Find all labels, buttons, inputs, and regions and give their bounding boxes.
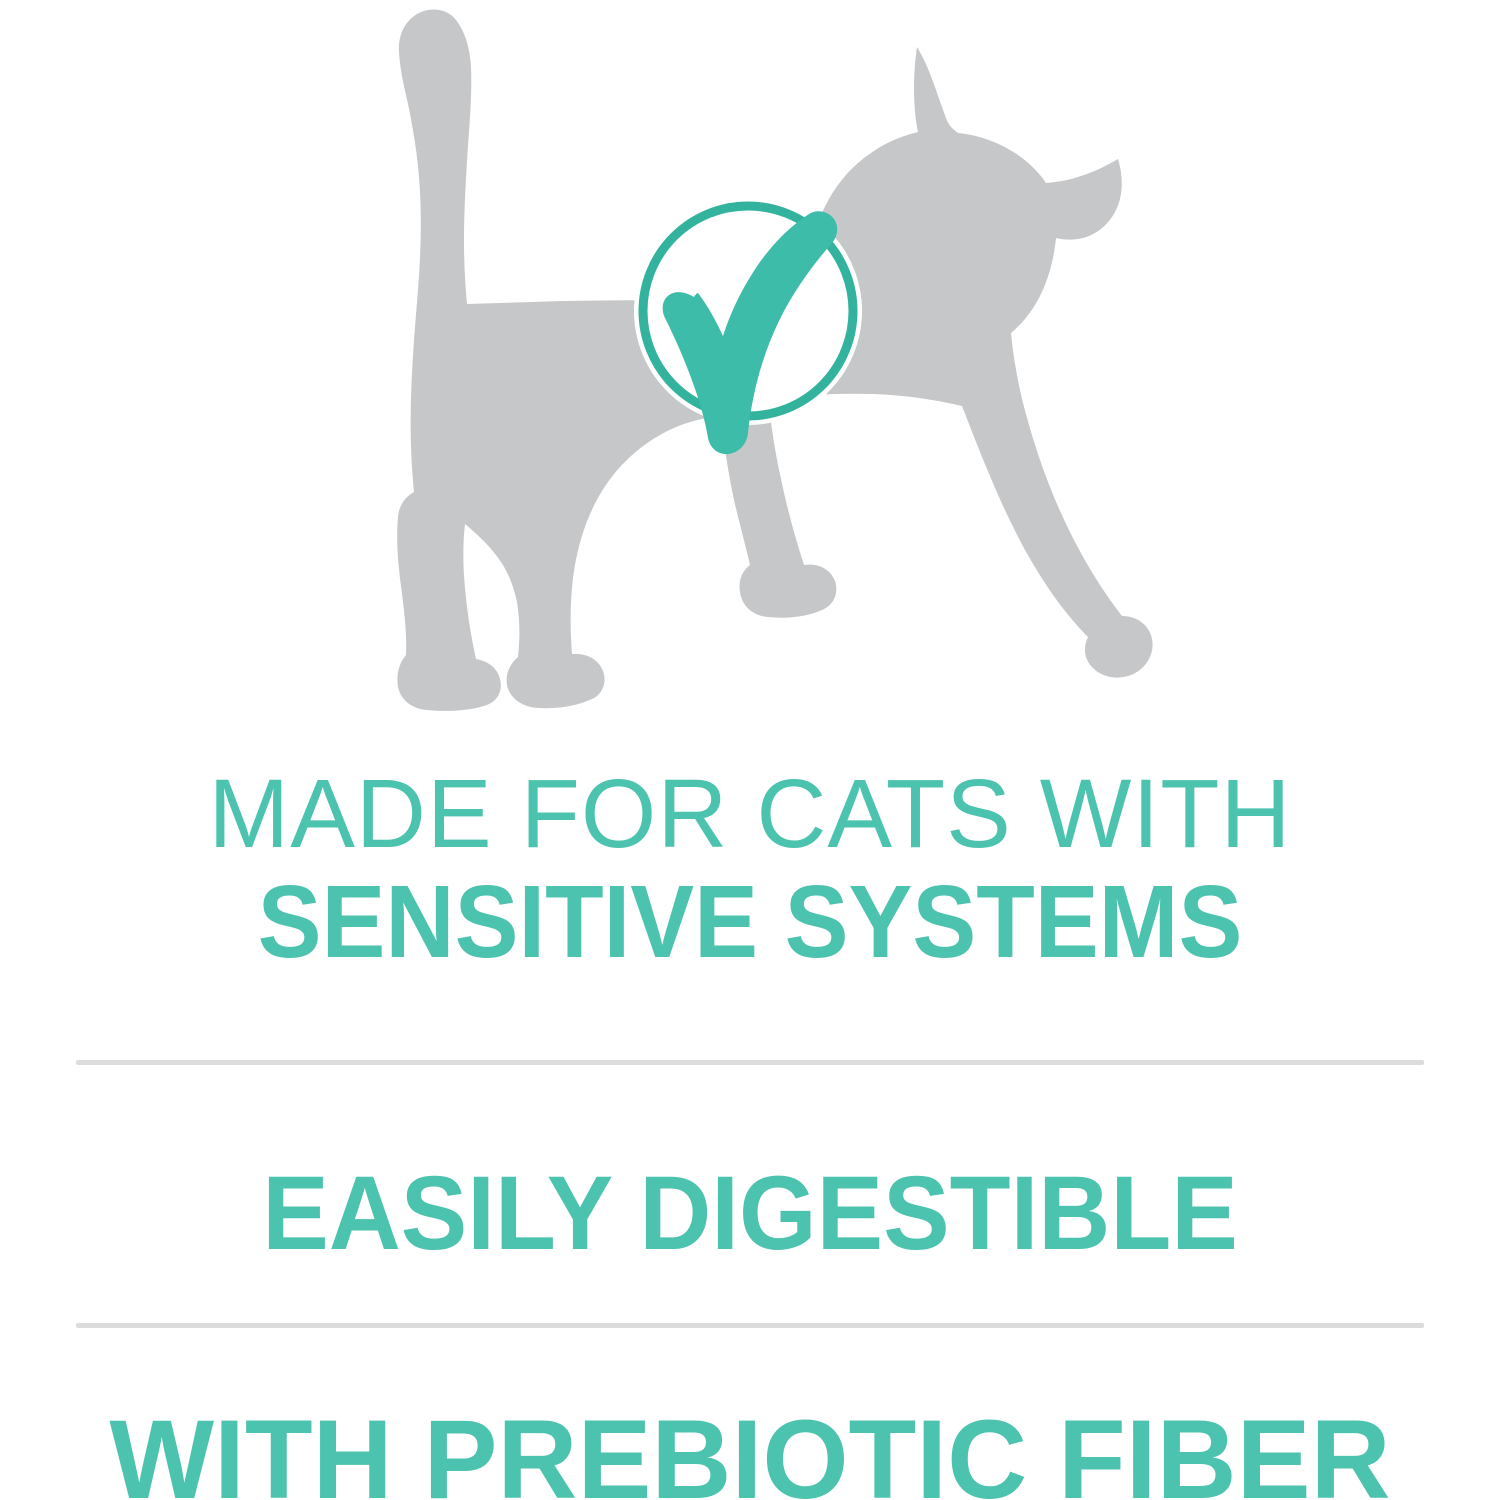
benefit-with-prebiotic-fiber: WITH PREBIOTIC FIBER	[8, 1398, 1493, 1500]
divider-bottom	[76, 1323, 1424, 1328]
hero-illustration	[0, 0, 1500, 745]
headline-line-2: SENSITIVE SYSTEMS	[53, 866, 1448, 978]
headline-block: MADE FOR CATS WITH SENSITIVE SYSTEMS	[0, 762, 1500, 978]
product-feature-panel: MADE FOR CATS WITH SENSITIVE SYSTEMS EAS…	[0, 0, 1500, 1500]
headline-line-1: MADE FOR CATS WITH	[0, 762, 1500, 866]
divider-top	[76, 1060, 1424, 1065]
benefit-easily-digestible: EASILY DIGESTIBLE	[38, 1155, 1463, 1273]
